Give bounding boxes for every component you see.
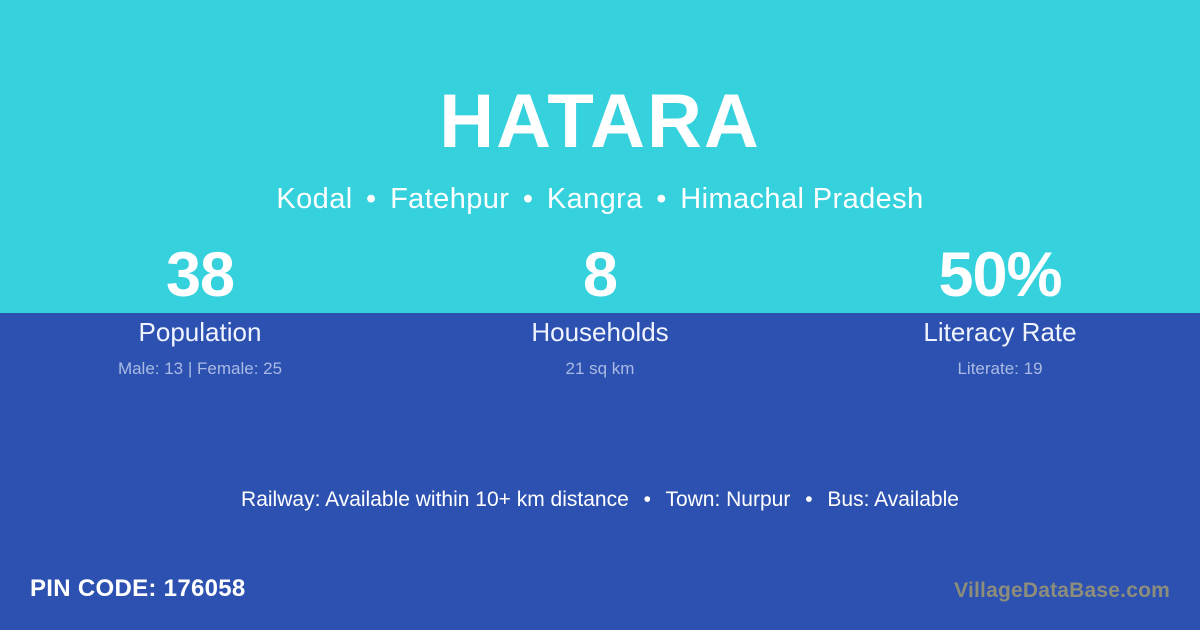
stat-label: Literacy Rate <box>923 316 1076 349</box>
stat-literacy-rate: 50% Literacy Rate Literate: 19 <box>800 243 1200 388</box>
breadcrumb-item-village: Kodal <box>276 183 352 215</box>
amenities-line: Railway: Available within 10+ km distanc… <box>0 486 1200 513</box>
footer: PIN CODE: 176058 VillageDataBase.com <box>0 575 1200 630</box>
stat-value: 38 <box>166 243 234 313</box>
stat-label: Households <box>531 316 668 349</box>
breadcrumb-item-block: Fatehpur <box>390 183 509 215</box>
stats-row: 38 Population Male: 13 | Female: 25 8 Ho… <box>0 243 1200 388</box>
stat-households: 8 Households 21 sq km <box>400 243 800 388</box>
breadcrumb-separator-icon: • <box>651 183 672 215</box>
amenity-separator-icon: • <box>796 486 821 513</box>
stat-value: 8 <box>583 243 617 313</box>
breadcrumb-separator-icon: • <box>361 183 382 215</box>
stat-sublabel: 21 sq km <box>566 359 635 379</box>
amenity-bus: Bus: Available <box>827 488 959 511</box>
stat-label: Population <box>139 316 262 349</box>
pin-code: PIN CODE: 176058 <box>30 575 246 604</box>
breadcrumb: Kodal • Fatehpur • Kangra • Himachal Pra… <box>0 182 1200 217</box>
stat-sublabel: Literate: 19 <box>957 359 1042 379</box>
stat-population: 38 Population Male: 13 | Female: 25 <box>0 243 400 388</box>
page-title: HATARA <box>0 84 1200 160</box>
village-info-card: { "theme": { "hero_bg": "#35d1dd", "body… <box>0 0 1200 630</box>
amenity-separator-icon: • <box>635 486 660 513</box>
breadcrumb-item-district: Kangra <box>547 183 643 215</box>
breadcrumb-item-state: Himachal Pradesh <box>680 183 923 215</box>
stat-value: 50% <box>938 243 1061 313</box>
amenity-railway: Railway: Available within 10+ km distanc… <box>241 488 629 511</box>
amenity-town: Town: Nurpur <box>665 488 790 511</box>
breadcrumb-separator-icon: • <box>518 183 539 215</box>
stat-sublabel: Male: 13 | Female: 25 <box>118 359 282 379</box>
site-brand: VillageDataBase.com <box>954 578 1170 603</box>
